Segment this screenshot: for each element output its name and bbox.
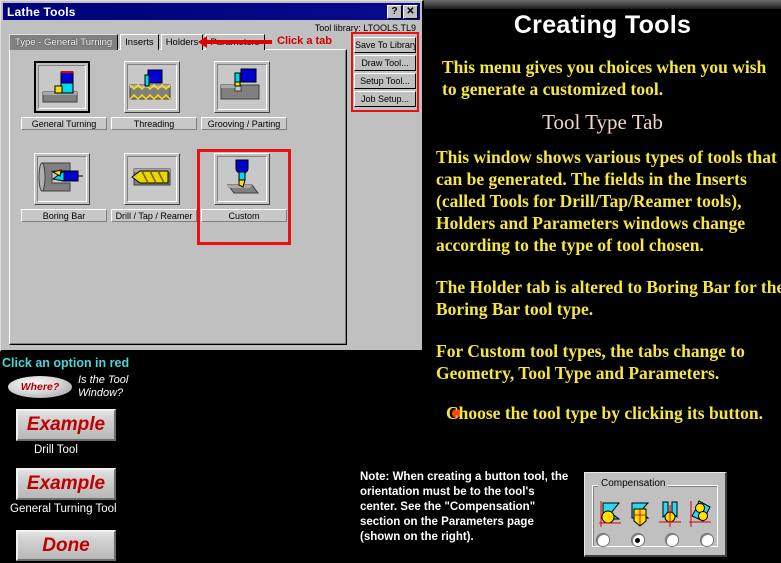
tool-button-drill-tap-reamer[interactable] <box>124 153 180 205</box>
example-drill-tool-button[interactable]: Example <box>16 409 116 441</box>
click-a-tab-hint: Click a tab <box>277 35 332 47</box>
tool-cell-custom: Custom <box>199 151 289 243</box>
action-button-group: Save To Library... Draw Tool... Setup To… <box>351 32 419 112</box>
slide-paragraph-4: For Custom tool types, the tabs change t… <box>436 340 781 384</box>
lathe-tools-window: Lathe Tools ? ✕ Tool library: LTOOLS.TL9… <box>0 0 424 352</box>
window-title-bar[interactable]: Lathe Tools ? ✕ <box>3 3 420 20</box>
tool-cell-threading: Threading <box>109 59 199 151</box>
grooving-parting-icon <box>217 64 267 110</box>
compensation-radio-1[interactable] <box>597 534 609 546</box>
example-general-turning-tool-caption: General Turning Tool <box>10 503 170 515</box>
example-drill-tool-caption: Drill Tool <box>34 444 194 456</box>
slide-paragraph-1: This menu gives you choices when you wis… <box>442 56 781 100</box>
note-text: Note: When creating a button tool, the o… <box>360 470 570 545</box>
threading-icon <box>127 64 177 110</box>
general-turning-icon <box>38 65 86 109</box>
tool-label-general-turning[interactable]: General Turning <box>21 117 107 130</box>
compensation-radio-4[interactable] <box>701 534 713 546</box>
done-button[interactable]: Done <box>16 530 116 561</box>
comp-tip-icon <box>657 499 683 529</box>
click-a-tab-arrow-icon <box>206 40 272 44</box>
custom-tool-icon <box>217 156 267 202</box>
tool-cell-drill-tap-reamer: Drill / Tap / Reamer <box>109 151 199 243</box>
tool-type-grid: General Turning <box>19 59 289 243</box>
comp-center-icon <box>627 499 653 529</box>
compensation-groupbox: Compensation <box>584 472 727 557</box>
window-title: Lathe Tools <box>7 5 386 19</box>
tool-label-custom[interactable]: Custom <box>201 209 287 222</box>
save-to-library-button[interactable]: Save To Library... <box>354 37 416 53</box>
nav-heading: Click an option in red <box>2 356 129 370</box>
tool-button-grooving-parting[interactable] <box>214 61 270 113</box>
tool-button-general-turning[interactable] <box>34 61 90 113</box>
compensation-radio-row <box>597 533 713 547</box>
comp-rotated-icon <box>687 499 713 529</box>
slide-subheading: Tool Type Tab <box>424 110 781 135</box>
job-setup-button[interactable]: Job Setup... <box>354 91 416 107</box>
example-general-turning-tool-button[interactable]: Example <box>16 468 116 500</box>
boring-bar-icon <box>37 156 87 202</box>
help-button[interactable]: ? <box>387 5 402 19</box>
setup-tool-button[interactable]: Setup Tool... <box>354 73 416 89</box>
slide-title: Creating Tools <box>424 11 781 40</box>
where-question-line2: Window? <box>78 387 188 400</box>
tool-button-boring-bar[interactable] <box>34 153 90 205</box>
where-question-line1: Is the Tool <box>78 374 188 387</box>
tool-button-custom[interactable] <box>214 153 270 205</box>
tool-label-drill-tap-reamer[interactable]: Drill / Tap / Reamer <box>111 209 197 222</box>
where-button[interactable]: Where? <box>8 376 72 398</box>
compensation-radio-2[interactable] <box>632 534 644 546</box>
draw-tool-button[interactable]: Draw Tool... <box>354 55 416 71</box>
screen-root: Lathe Tools ? ✕ Tool library: LTOOLS.TL9… <box>0 0 781 563</box>
comp-left-icon <box>597 499 623 529</box>
tool-button-threading[interactable] <box>124 61 180 113</box>
tab-type-general-turning[interactable]: Type - General Turning <box>9 34 118 50</box>
where-question-text: Is the Tool Window? <box>78 374 188 400</box>
slide-top-gradient-bar <box>424 0 781 9</box>
tool-cell-grooving-parting: Grooving / Parting <box>199 59 289 151</box>
tool-label-threading[interactable]: Threading <box>111 117 197 130</box>
tool-cell-boring-bar: Boring Bar <box>19 151 109 243</box>
close-button[interactable]: ✕ <box>403 5 418 19</box>
tool-cell-general-turning: General Turning <box>19 59 109 151</box>
tool-label-boring-bar[interactable]: Boring Bar <box>21 209 107 222</box>
slide-paragraph-3: The Holder tab is altered to Boring Bar … <box>436 276 781 320</box>
drill-tap-reamer-icon <box>127 156 177 202</box>
slide-paragraph-2: This window shows various types of tools… <box>436 146 781 256</box>
compensation-legend: Compensation <box>598 478 668 489</box>
compensation-icon-row <box>597 495 713 529</box>
tab-inserts[interactable]: Inserts <box>120 34 159 50</box>
tool-label-grooving-parting[interactable]: Grooving / Parting <box>201 117 287 130</box>
compensation-radio-3[interactable] <box>666 534 678 546</box>
slide-bullet-text: Choose the tool type by clicking its but… <box>446 402 781 424</box>
